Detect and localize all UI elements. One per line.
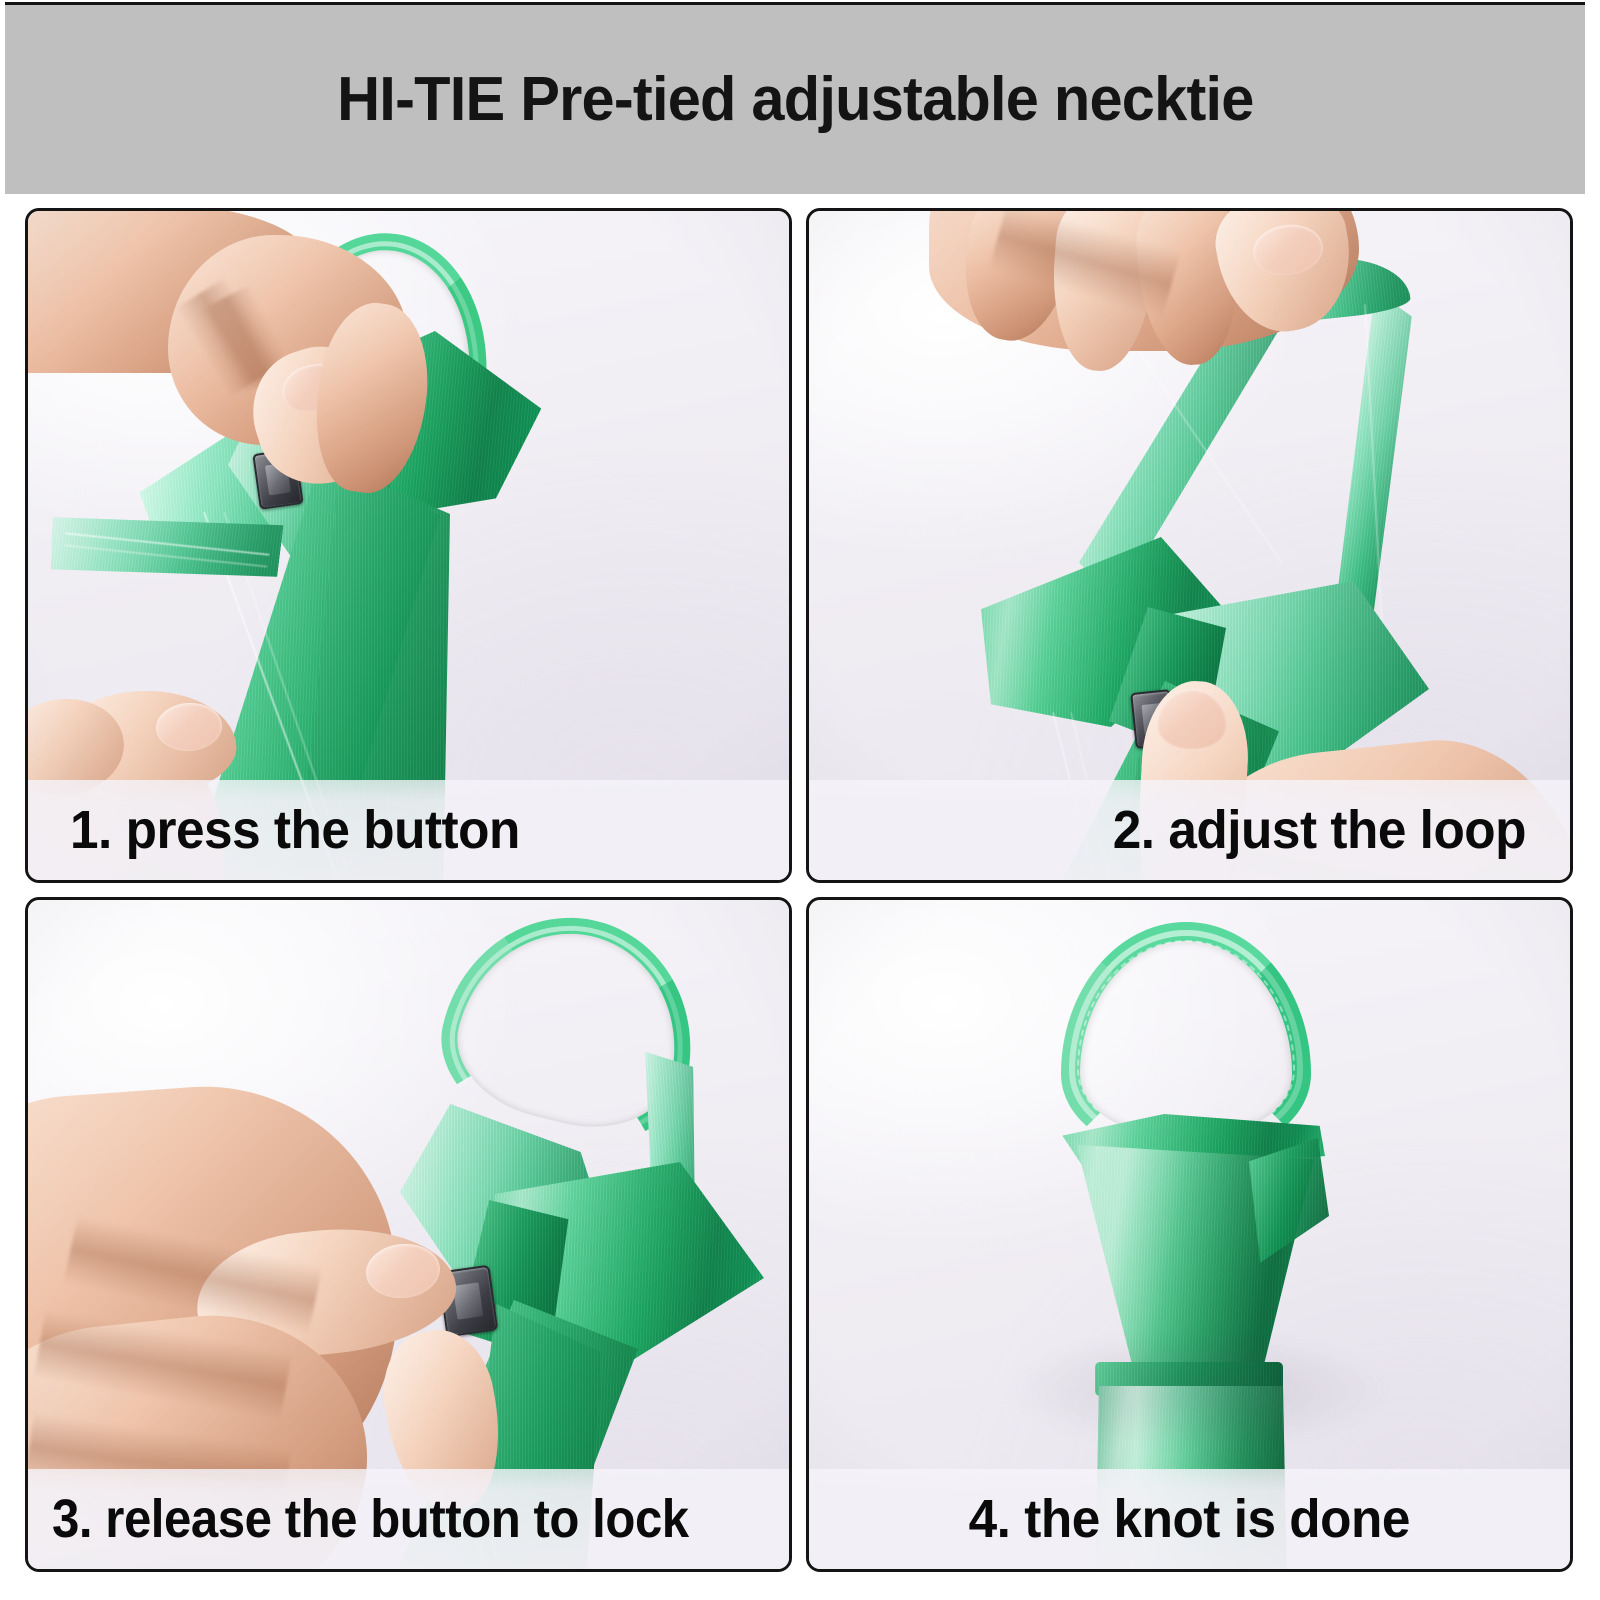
step-caption-1: 1. press the button xyxy=(70,799,520,861)
caption-bar-2: 2. adjust the loop xyxy=(809,780,1570,880)
step-caption-3: 3. release the button to lock xyxy=(52,1488,689,1550)
caption-bar-1: 1. press the button xyxy=(28,780,789,880)
step-panel-2: 2. adjust the loop xyxy=(806,208,1573,883)
caption-bar-4: 4. the knot is done xyxy=(809,1469,1570,1569)
step-panel-4: 4. the knot is done xyxy=(806,897,1573,1572)
step-caption-4: 4. the knot is done xyxy=(969,1488,1410,1550)
step-caption-2: 2. adjust the loop xyxy=(1113,799,1526,861)
instruction-panel-grid: 1. press the button xyxy=(25,208,1573,1572)
header-banner: HI-TIE Pre-tied adjustable necktie xyxy=(5,2,1585,194)
caption-bar-3: 3. release the button to lock xyxy=(28,1469,789,1569)
step-panel-1: 1. press the button xyxy=(25,208,792,883)
step-panel-3: 3. release the button to lock xyxy=(25,897,792,1572)
page-title: HI-TIE Pre-tied adjustable necktie xyxy=(337,64,1254,135)
